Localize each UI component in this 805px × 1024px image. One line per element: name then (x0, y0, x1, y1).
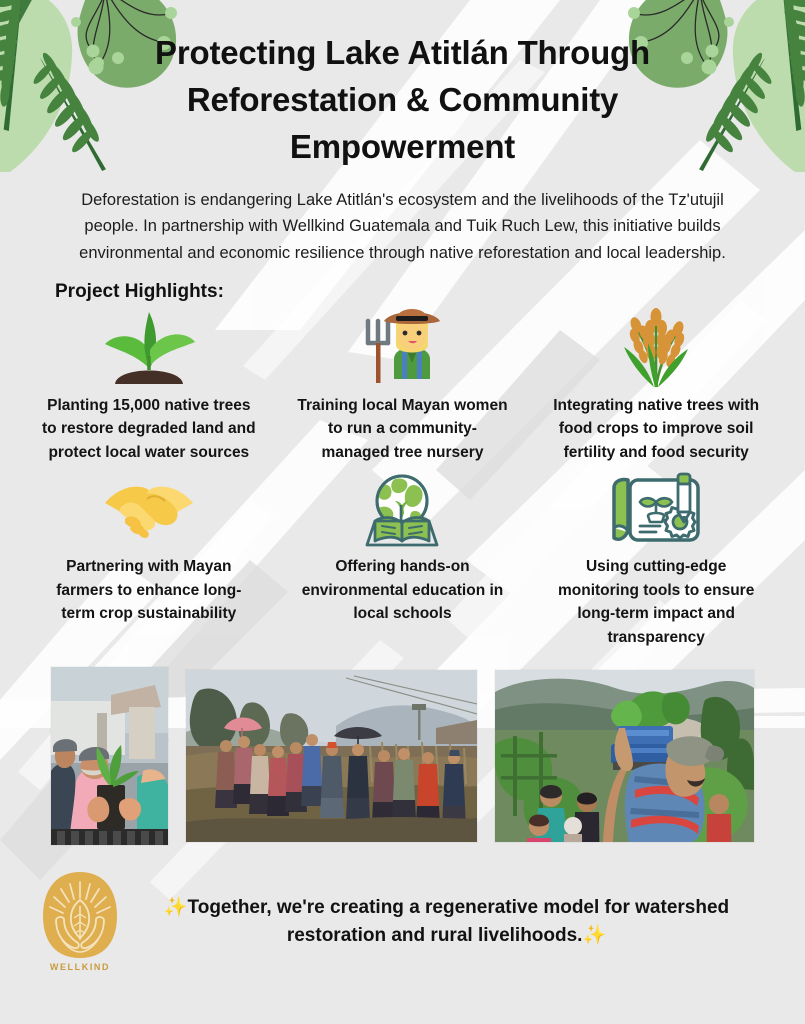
photo-man-holding-seedling (51, 667, 168, 845)
sparkle-left-icon: ✨ (164, 897, 188, 918)
infographic-poster: Protecting Lake Atitlán Through Reforest… (0, 0, 805, 1024)
footer-message: ✨Together, we're creating a regenerative… (140, 894, 775, 949)
highlights-grid: Planting 15,000 native trees to restore … (0, 303, 805, 650)
highlight-caption: Using cutting-edge monitoring tools to e… (549, 555, 764, 649)
woman-farmer-icon (358, 305, 446, 389)
photo-community-group-in-field (186, 670, 477, 842)
blueprint-monitoring-icon (604, 470, 708, 550)
highlight-item-education: Offering hands-on environmental educatio… (276, 470, 530, 649)
footer-message-text: Together, we're creating a regenerative … (188, 897, 730, 946)
seedling-icon (95, 305, 203, 389)
globe-book-icon (359, 470, 445, 550)
highlight-item-monitoring: Using cutting-edge monitoring tools to e… (529, 470, 783, 649)
highlight-caption: Planting 15,000 native trees to restore … (41, 394, 256, 465)
poster-header: Protecting Lake Atitlán Through Reforest… (0, 0, 805, 171)
handshake-icon (101, 470, 197, 550)
highlight-caption: Partnering with Mayan farmers to enhance… (41, 555, 256, 626)
highlight-item-agroforestry: Integrating native trees with food crops… (529, 305, 783, 465)
wellkind-logo: WELLKIND (34, 870, 126, 974)
wheat-icon (610, 305, 702, 389)
highlight-caption: Integrating native trees with food crops… (549, 394, 764, 465)
highlight-item-training: Training local Mayan women to run a comm… (276, 305, 530, 465)
sparkle-right-icon: ✨ (582, 925, 606, 946)
intro-paragraph: Deforestation is endangering Lake Atitlá… (65, 187, 741, 267)
project-highlights-label: Project Highlights: (55, 281, 805, 303)
highlight-caption: Training local Mayan women to run a comm… (295, 394, 510, 465)
page-title: Protecting Lake Atitlán Through Reforest… (84, 30, 721, 171)
highlight-item-planting: Planting 15,000 native trees to restore … (22, 305, 276, 465)
photo-man-carrying-seedling-crates (495, 670, 754, 842)
photo-gallery (0, 664, 805, 849)
highlight-caption: Offering hands-on environmental educatio… (295, 555, 510, 626)
wellkind-logo-text: WELLKIND (50, 962, 110, 972)
poster-footer: WELLKIND ✨Together, we're creating a reg… (0, 863, 805, 981)
highlight-item-partnering: Partnering with Mayan farmers to enhance… (22, 470, 276, 649)
